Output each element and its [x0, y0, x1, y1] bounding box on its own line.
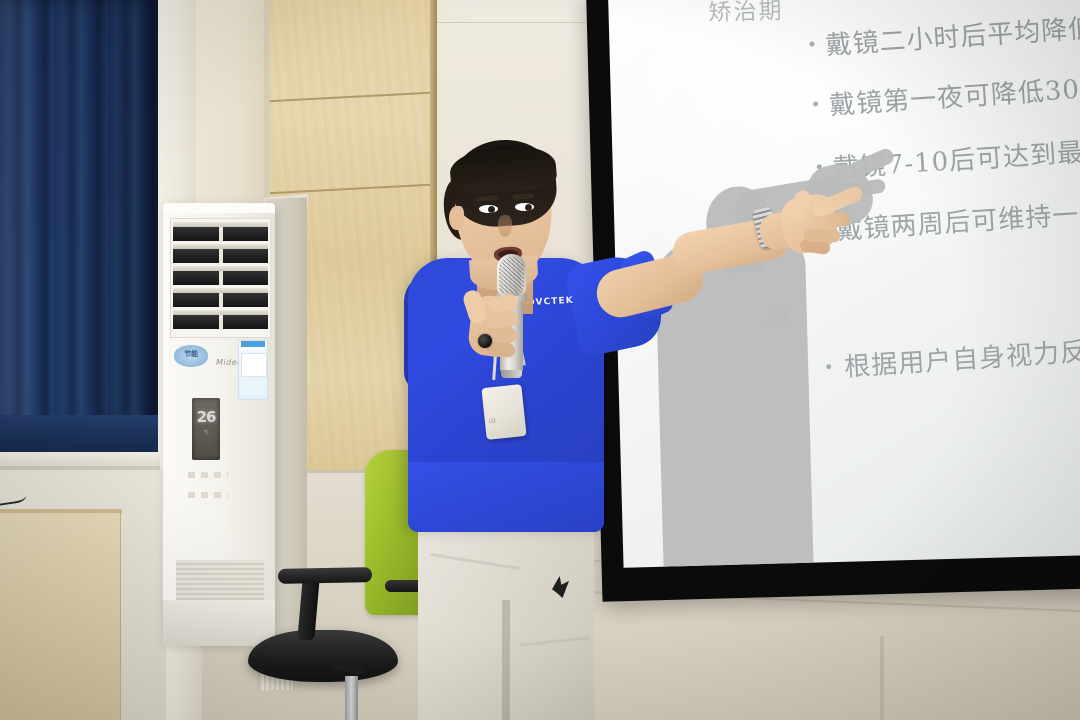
office-chair-seat[interactable]: [248, 630, 398, 682]
presenter-ring: [478, 334, 492, 348]
presenter-eye-left: [479, 205, 498, 213]
slide-bullet-marker: [826, 364, 831, 369]
microphone-mesh-grille: [499, 257, 524, 293]
ac-air-outlet-grille: [170, 218, 271, 338]
curtain-shading: [0, 0, 158, 468]
presenter-eye-right: [515, 203, 534, 211]
floor-tile-seam-vertical: [880, 636, 884, 720]
presenter-pupil: [488, 206, 495, 213]
slide-bullet-text: 根据用户自身视力反弹: [843, 329, 1080, 384]
office-chair-gas-cylinder: [345, 676, 358, 720]
office-chair-armrest-left[interactable]: [278, 567, 372, 584]
presenter-ear: [449, 206, 464, 230]
ac-control-buttons-row-2[interactable]: [188, 492, 228, 498]
ac-base: [163, 600, 275, 646]
presenter-nose: [498, 215, 512, 237]
ac-louver[interactable]: [173, 288, 268, 307]
presenter-pants-inseam: [502, 600, 510, 720]
slide-heading-1: 矫治期: [708, 0, 784, 27]
presenter-pupil: [525, 204, 532, 211]
ac-louver[interactable]: [173, 310, 268, 329]
ac-display-unit: °C: [192, 430, 220, 436]
ac-temperature-readout: 26: [192, 408, 220, 426]
ac-louver[interactable]: [173, 222, 268, 241]
ac-energy-saving-label: 节能: [176, 349, 206, 359]
slide-bullet-text: 戴镜二小时后平均降低: [824, 8, 1080, 63]
classroom-presentation-photo: 节能 Midea 26 °C 矫治期 戴镜二小时后平均降低 戴镜第一夜可降低30…: [0, 0, 1080, 720]
ac-energy-efficiency-label: [238, 340, 268, 400]
microphone-base-tip: [501, 370, 522, 378]
slide-bullet-marker: [813, 101, 818, 106]
ac-louver[interactable]: [173, 244, 268, 263]
ac-top-cap: [163, 203, 275, 213]
id-badge[interactable]: [481, 384, 526, 440]
ac-louver[interactable]: [173, 266, 268, 285]
slide-bullet-marker: [809, 41, 814, 46]
presenter-right-finger: [804, 228, 840, 242]
ac-control-buttons-row-1[interactable]: [188, 472, 228, 478]
curtain-bottom-hem: [0, 415, 158, 457]
wooden-desk: [0, 512, 121, 720]
slide-bullet-text: 戴镜第一夜可降低300: [828, 68, 1080, 122]
id-badge-text: ID: [489, 418, 497, 426]
ac-intake-vent: [176, 560, 264, 604]
presenter-shirt-hem: [408, 462, 604, 532]
